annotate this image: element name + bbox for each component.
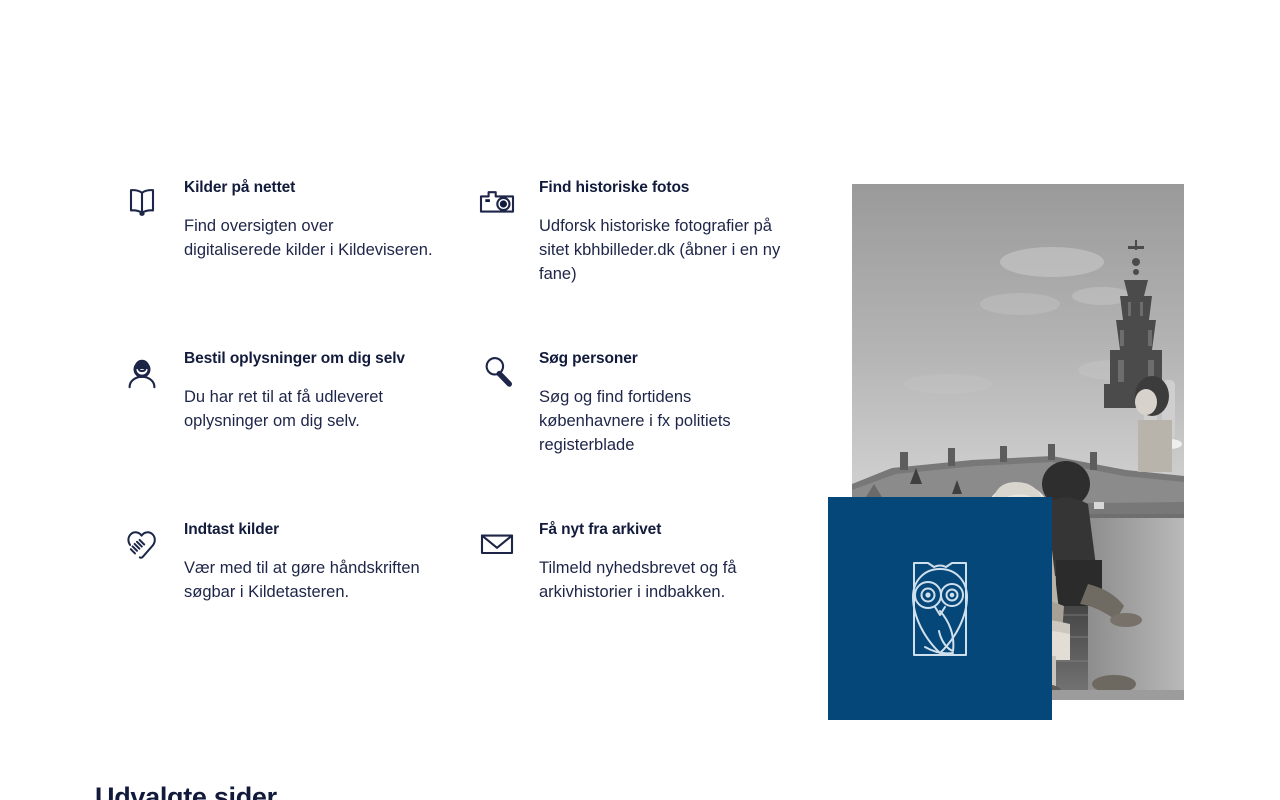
feature-body: Find historiske fotos Udforsk historiske…	[539, 178, 789, 286]
feature-card-kilder-paa-nettet[interactable]: Kilder på nettet Find oversigten over di…	[120, 178, 475, 349]
feature-card-find-historiske-fotos[interactable]: Find historiske fotos Udforsk historiske…	[475, 178, 820, 349]
feature-card-indtast-kilder[interactable]: Indtast kilder Vær med til at gøre hånds…	[120, 520, 475, 691]
feature-body: Indtast kilder Vær med til at gøre hånds…	[184, 520, 434, 604]
magnifier-icon	[475, 351, 519, 395]
page-root: Kilder på nettet Find oversigten over di…	[0, 0, 1280, 800]
feature-title: Kilder på nettet	[184, 178, 434, 198]
feature-text: Søg og find fortidens københavnere i fx …	[539, 385, 789, 457]
feature-title: Søg personer	[539, 349, 789, 369]
feature-title: Bestil oplysninger om dig selv	[184, 349, 429, 369]
feature-text: Udforsk historiske fotografier på sitet …	[539, 214, 789, 286]
media-block	[828, 184, 1184, 720]
feature-body: Bestil oplysninger om dig selv Du har re…	[184, 349, 429, 433]
feature-body: Søg personer Søg og find fortidens køben…	[539, 349, 789, 457]
person-icon	[120, 351, 164, 395]
owl-logo-panel	[828, 497, 1052, 720]
feature-body: Få nyt fra arkivet Tilmeld nyhedsbrevet …	[539, 520, 789, 604]
feature-grid: Kilder på nettet Find oversigten over di…	[120, 178, 820, 691]
feature-card-bestil-oplysninger[interactable]: Bestil oplysninger om dig selv Du har re…	[120, 349, 475, 520]
feature-card-faa-nyt-fra-arkivet[interactable]: Få nyt fra arkivet Tilmeld nyhedsbrevet …	[475, 520, 820, 691]
feature-title: Indtast kilder	[184, 520, 434, 540]
feature-text: Find oversigten over digitaliserede kild…	[184, 214, 434, 262]
typing-hand-icon	[120, 522, 164, 566]
open-book-icon	[120, 180, 164, 224]
feature-title: Find historiske fotos	[539, 178, 789, 198]
envelope-icon	[475, 522, 519, 566]
feature-card-soeg-personer[interactable]: Søg personer Søg og find fortidens køben…	[475, 349, 820, 520]
owl-icon	[905, 555, 975, 663]
feature-title: Få nyt fra arkivet	[539, 520, 789, 540]
feature-text: Tilmeld nyhedsbrevet og få arkivhistorie…	[539, 556, 789, 604]
camera-icon	[475, 180, 519, 224]
feature-text: Vær med til at gøre håndskriften søgbar …	[184, 556, 434, 604]
feature-body: Kilder på nettet Find oversigten over di…	[184, 178, 434, 262]
feature-text: Du har ret til at få udleveret oplysning…	[184, 385, 429, 433]
section-heading-partial: Udvalgte sider	[95, 781, 277, 800]
